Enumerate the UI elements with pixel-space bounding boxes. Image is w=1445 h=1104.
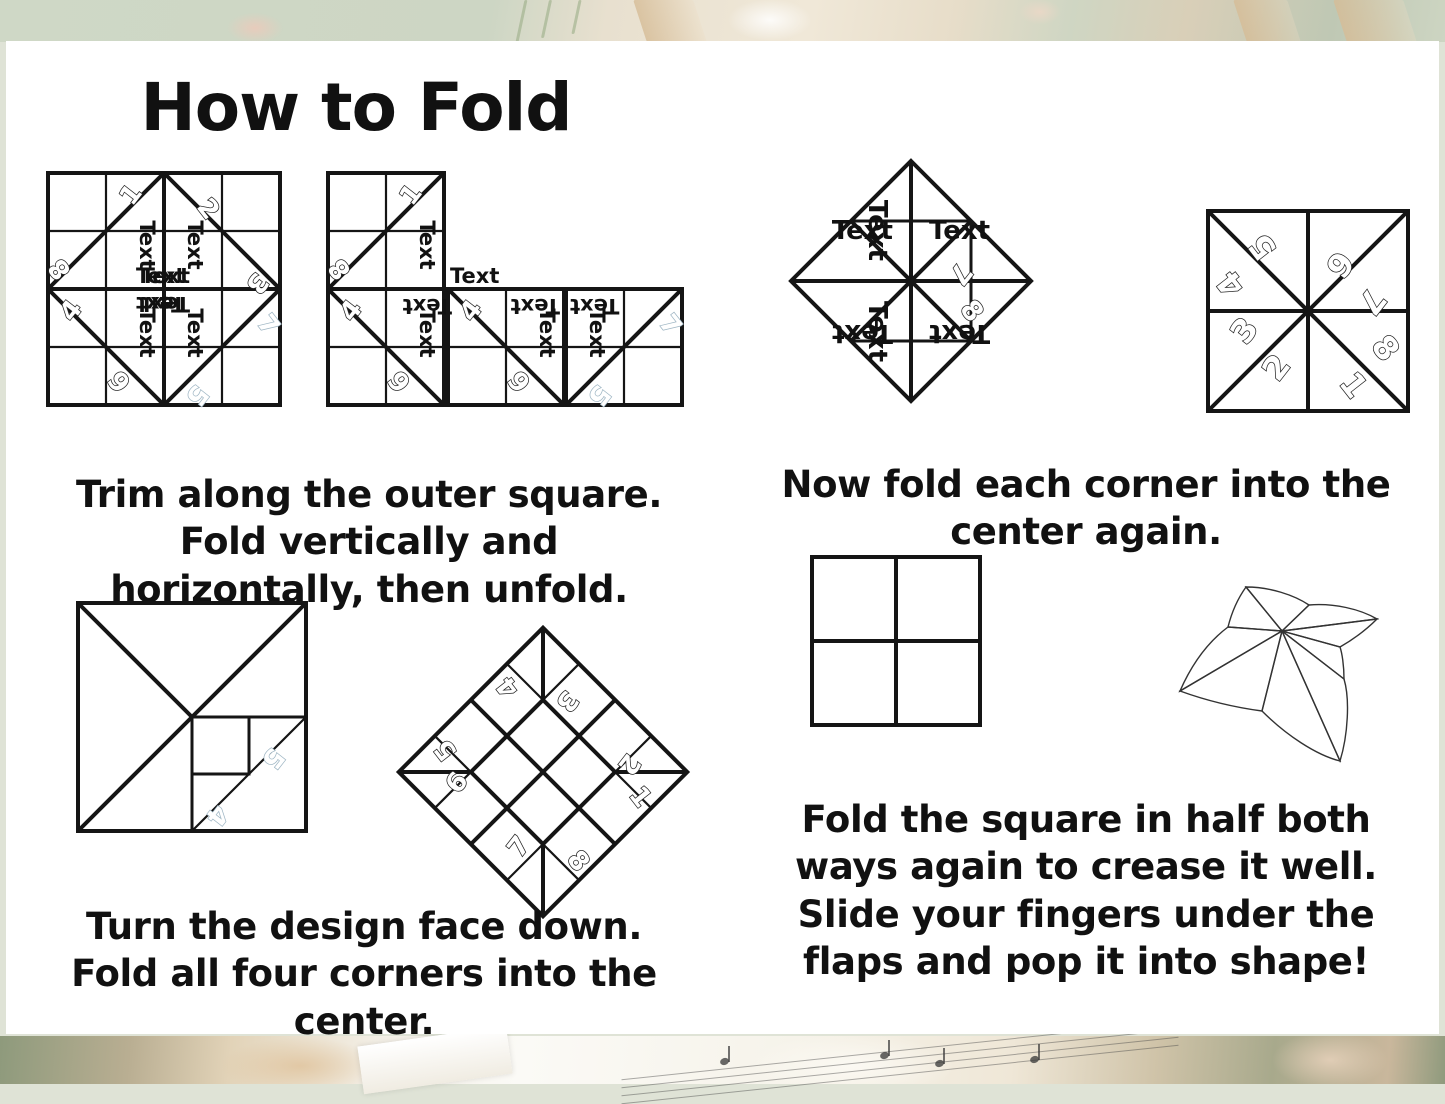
text-label: Text: [403, 294, 452, 318]
numbered-diamond-svg: 4 3 5 2 6 1 7 8: [398, 627, 688, 917]
caption-line: flaps and pop it into shape!: [740, 938, 1432, 985]
text-label: Text: [832, 318, 893, 348]
number-7: 7: [1350, 281, 1394, 322]
number-1: 1: [394, 179, 429, 212]
caption-line: Fold all four corners into the: [18, 950, 710, 997]
number-8: 8: [560, 845, 595, 878]
page-title: How to Fold: [6, 41, 706, 146]
caption-line: Fold the square in half both: [740, 796, 1432, 843]
template-folded-pair: 4 6 Text Text 7 5 Text Text: [448, 289, 687, 411]
step-4-diagram-quad-square: [806, 551, 986, 731]
caption-line: ways again to crease it well.: [740, 843, 1432, 890]
number-6: 6: [383, 364, 418, 397]
numbered-square-svg: 5 6 4 7 3 8 2 1: [1198, 201, 1418, 421]
step-1-diagram-group: 1 2 8 3 4 7 6 5 Text Text Text Text Text…: [40, 165, 700, 415]
number-5: 5: [1241, 227, 1285, 268]
number-7: 7: [942, 257, 978, 291]
number-6: 6: [103, 364, 138, 397]
text-label: Text: [929, 318, 990, 348]
caption-line: Slide your fingers under the: [740, 891, 1432, 938]
text-label: Text: [415, 220, 439, 269]
step-2-diagram-square: 5 4: [66, 591, 316, 851]
text-label: Text: [511, 294, 560, 318]
number-3: 3: [239, 267, 274, 300]
popped-cootie-catcher-svg: [1174, 539, 1384, 769]
text-label: Text: [141, 264, 190, 288]
flat-template-svg: 1 2 8 3 4 7 6 5 Text Text Text Text Text…: [40, 165, 700, 415]
caption-line: Fold vertically and: [28, 518, 710, 565]
step-2-diagram-diamond: 4 3 5 2 6 1 7 8: [398, 627, 688, 917]
number-3: 3: [1222, 310, 1266, 351]
number-8: 8: [1364, 328, 1408, 369]
step-4-caption: Fold the square in half both ways again …: [740, 796, 1432, 985]
caption-line: Trim along the outer square.: [28, 471, 710, 518]
caption-line: center.: [18, 998, 710, 1045]
text-label: Text: [183, 308, 207, 357]
number-4: 4: [1209, 264, 1253, 305]
template-full: 1 2 8 3 4 7 6 5 Text Text Text Text Text…: [43, 173, 286, 411]
text-diamond-svg: Text Text Text Text Text Text 7 8: [741, 111, 1081, 431]
caption-line: Now fold each corner into the: [740, 461, 1432, 508]
number-6: 6: [503, 364, 538, 397]
number-1: 1: [114, 179, 149, 212]
text-label: Text: [570, 294, 619, 318]
caption-line: Turn the design face down.: [18, 903, 710, 950]
number-4: 4: [199, 799, 234, 832]
number-2: 2: [611, 748, 646, 781]
step-2-caption: Turn the design face down. Fold all four…: [18, 903, 710, 1045]
four-pane-square-svg: [806, 551, 986, 731]
text-label: Text: [450, 264, 499, 288]
worksheet-page: How to Fold 1: [6, 41, 1439, 1034]
text-label: Text: [183, 220, 207, 269]
text-label: Text: [141, 292, 190, 316]
number-7: 7: [502, 831, 537, 864]
step-3-diagram-diamond: Text Text Text Text Text Text 7 8: [741, 111, 1081, 431]
step-4-diagram-popped-shape: [1174, 539, 1384, 769]
text-label: Text: [135, 220, 159, 269]
decorative-top-photo-band: [0, 0, 1445, 42]
text-label: Text: [929, 216, 990, 246]
text-label: Text: [862, 200, 892, 261]
number-5: 5: [255, 742, 290, 775]
step-3-diagram-numbered-square: 5 6 4 7 3 8 2 1: [1198, 201, 1418, 421]
square-corner-fold-svg: 5 4: [66, 591, 316, 851]
number-2: 2: [1254, 347, 1298, 388]
